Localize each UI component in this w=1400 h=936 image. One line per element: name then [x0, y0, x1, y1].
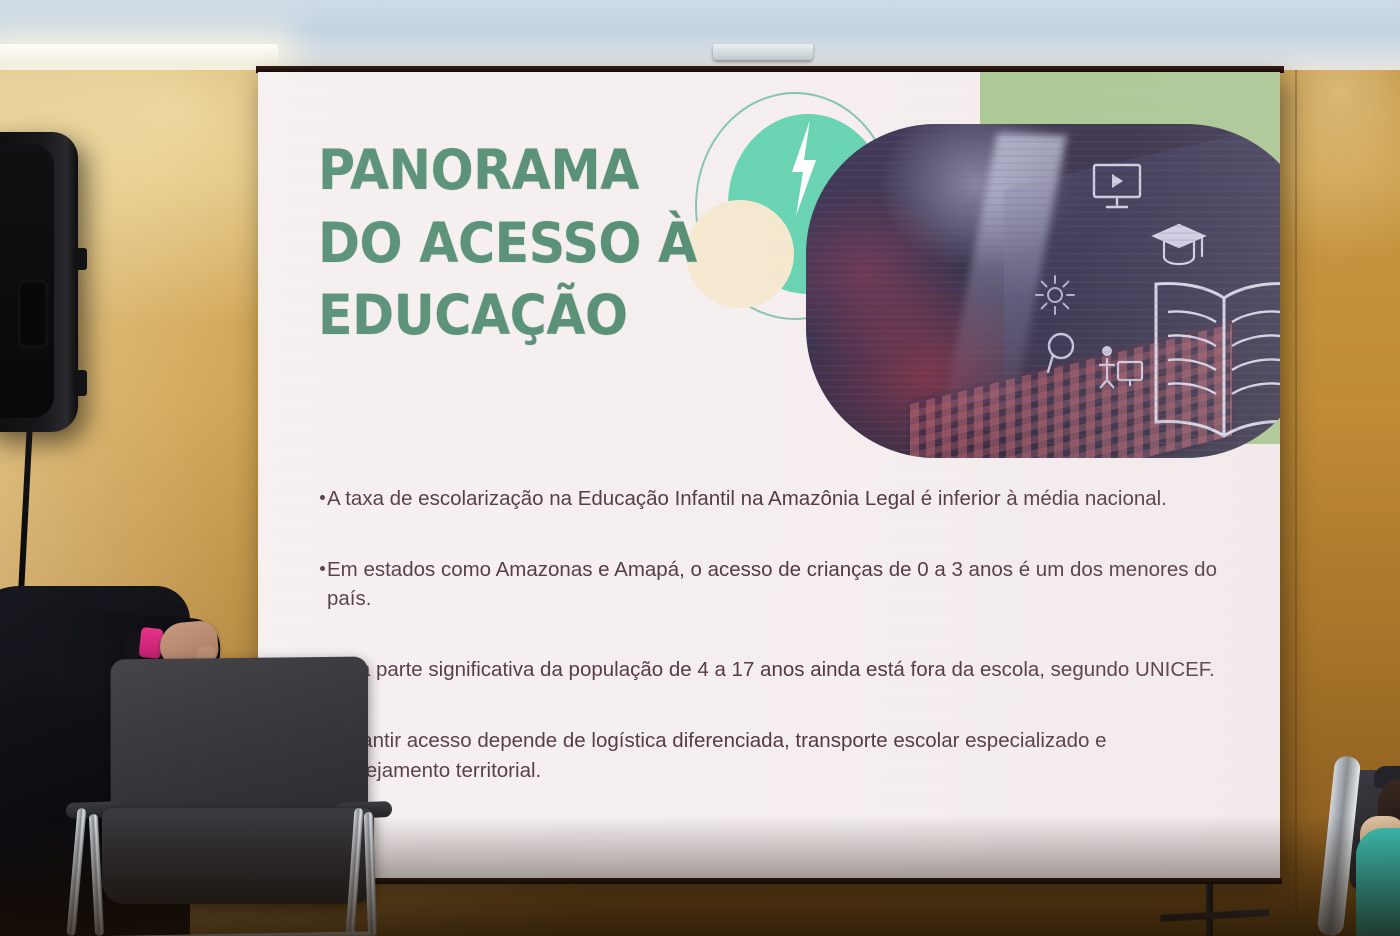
bullet-dot-icon [320, 495, 325, 500]
bullet-dot-icon [320, 566, 325, 571]
bullet-text: A taxa de escolarização na Educação Infa… [327, 484, 1167, 513]
room-scene: PANORAMA DO ACESSO À EDUCAÇÃO A taxa de … [0, 0, 1400, 936]
bullet-text: Uma parte significativa da população de … [327, 655, 1215, 684]
magnifier-icon [1042, 330, 1084, 378]
speaker-bracket-bottom [74, 370, 87, 396]
bullet-text: Em estados como Amazonas e Amapá, o aces… [327, 555, 1220, 613]
chair-backrest [111, 656, 368, 823]
list-item: A taxa de escolarização na Educação Infa… [320, 484, 1220, 513]
floor-shadow [0, 816, 1400, 936]
title-line-1: PANORAMA [318, 134, 704, 207]
slide-bullet-list: A taxa de escolarização na Educação Infa… [320, 484, 1220, 785]
list-item: Garantir acesso depende de logística dif… [320, 726, 1220, 784]
person-presenting-icon [1096, 342, 1150, 398]
lightning-bolt-icon [786, 120, 820, 216]
title-line-2: DO ACESSO À [318, 207, 704, 280]
screen-mount-bracket [713, 44, 813, 60]
wall-seam [1295, 70, 1297, 936]
bullet-text: Garantir acesso depende de logística dif… [327, 726, 1220, 784]
projected-slide: PANORAMA DO ACESSO À EDUCAÇÃO A taxa de … [258, 72, 1280, 880]
monitor-play-icon [1090, 162, 1144, 214]
open-book-icon [1144, 272, 1280, 450]
speaker-handle [18, 280, 48, 348]
speaker-bracket-top [74, 248, 87, 270]
graduation-cap-icon [1150, 220, 1208, 276]
list-item: Em estados como Amazonas e Amapá, o aces… [320, 555, 1220, 613]
gear-icon [1034, 274, 1076, 316]
list-item: Uma parte significativa da população de … [320, 655, 1220, 684]
ceiling-light-fixture [0, 44, 278, 66]
slide-title: PANORAMA DO ACESSO À EDUCAÇÃO [318, 134, 704, 352]
pa-speaker [0, 132, 78, 432]
title-line-3: EDUCAÇÃO [318, 279, 704, 352]
slide-photo [806, 124, 1280, 458]
